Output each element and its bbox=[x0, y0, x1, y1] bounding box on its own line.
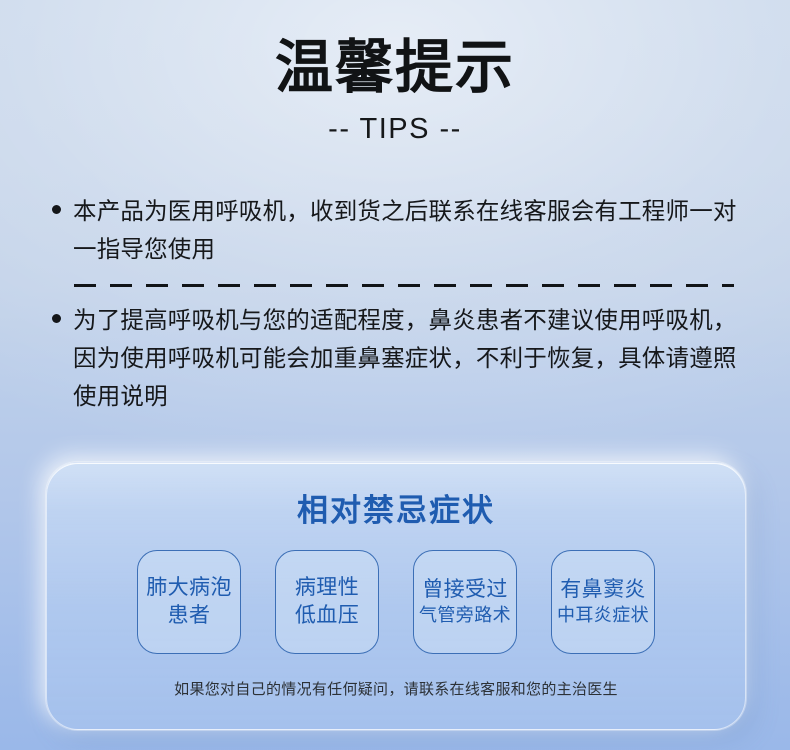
chip-line-3a: 曾接受过 bbox=[422, 576, 508, 604]
chip-line-2b: 低血压 bbox=[295, 602, 359, 630]
dashed-divider bbox=[74, 284, 734, 287]
note-item-2: 为了提高呼吸机与您的适配程度，鼻炎患者不建议使用呼吸机，因为使用呼吸机可能会加重… bbox=[52, 301, 742, 415]
note-text-1: 本产品为医用呼吸机，收到货之后联系在线客服会有工程师一对一指导您使用 bbox=[73, 192, 742, 268]
chip-item-2: 病理性 低血压 bbox=[275, 550, 379, 654]
bullet-icon bbox=[52, 314, 61, 323]
note-item-1: 本产品为医用呼吸机，收到货之后联系在线客服会有工程师一对一指导您使用 bbox=[52, 192, 742, 268]
tips-page: 温馨提示 -- TIPS -- 本产品为医用呼吸机，收到货之后联系在线客服会有工… bbox=[0, 0, 790, 750]
card-title: 相对禁忌症状 bbox=[47, 485, 745, 530]
page-header: 温馨提示 -- TIPS -- bbox=[0, 38, 790, 146]
chip-line-4b: 中耳炎症状 bbox=[557, 604, 649, 628]
chip-list: 肺大病泡 患者 病理性 低血压 曾接受过 气管旁路术 有鼻窦炎 中耳炎症状 bbox=[47, 550, 745, 654]
chip-line-1b: 患者 bbox=[168, 602, 211, 630]
chip-item-3: 曾接受过 气管旁路术 bbox=[413, 550, 517, 654]
card-footnote: 如果您对自己的情况有任何疑问，请联系在线客服和您的主治医生 bbox=[47, 678, 745, 699]
chip-item-4: 有鼻窦炎 中耳炎症状 bbox=[551, 550, 655, 654]
note-text-2: 为了提高呼吸机与您的适配程度，鼻炎患者不建议使用呼吸机，因为使用呼吸机可能会加重… bbox=[73, 301, 742, 415]
page-title: 温馨提示 bbox=[0, 38, 790, 99]
bullet-icon bbox=[52, 205, 61, 214]
chip-line-1a: 肺大病泡 bbox=[146, 574, 232, 602]
chip-line-3b: 气管旁路术 bbox=[419, 604, 511, 628]
notes-list: 本产品为医用呼吸机，收到货之后联系在线客服会有工程师一对一指导您使用 为了提高呼… bbox=[52, 192, 742, 415]
chip-item-1: 肺大病泡 患者 bbox=[137, 550, 241, 654]
chip-line-4a: 有鼻窦炎 bbox=[560, 576, 646, 604]
contraindication-card: 相对禁忌症状 肺大病泡 患者 病理性 低血压 曾接受过 气管旁路术 有鼻窦炎 中… bbox=[46, 462, 746, 730]
page-subtitle: -- TIPS -- bbox=[0, 113, 790, 146]
chip-line-2a: 病理性 bbox=[295, 574, 359, 602]
